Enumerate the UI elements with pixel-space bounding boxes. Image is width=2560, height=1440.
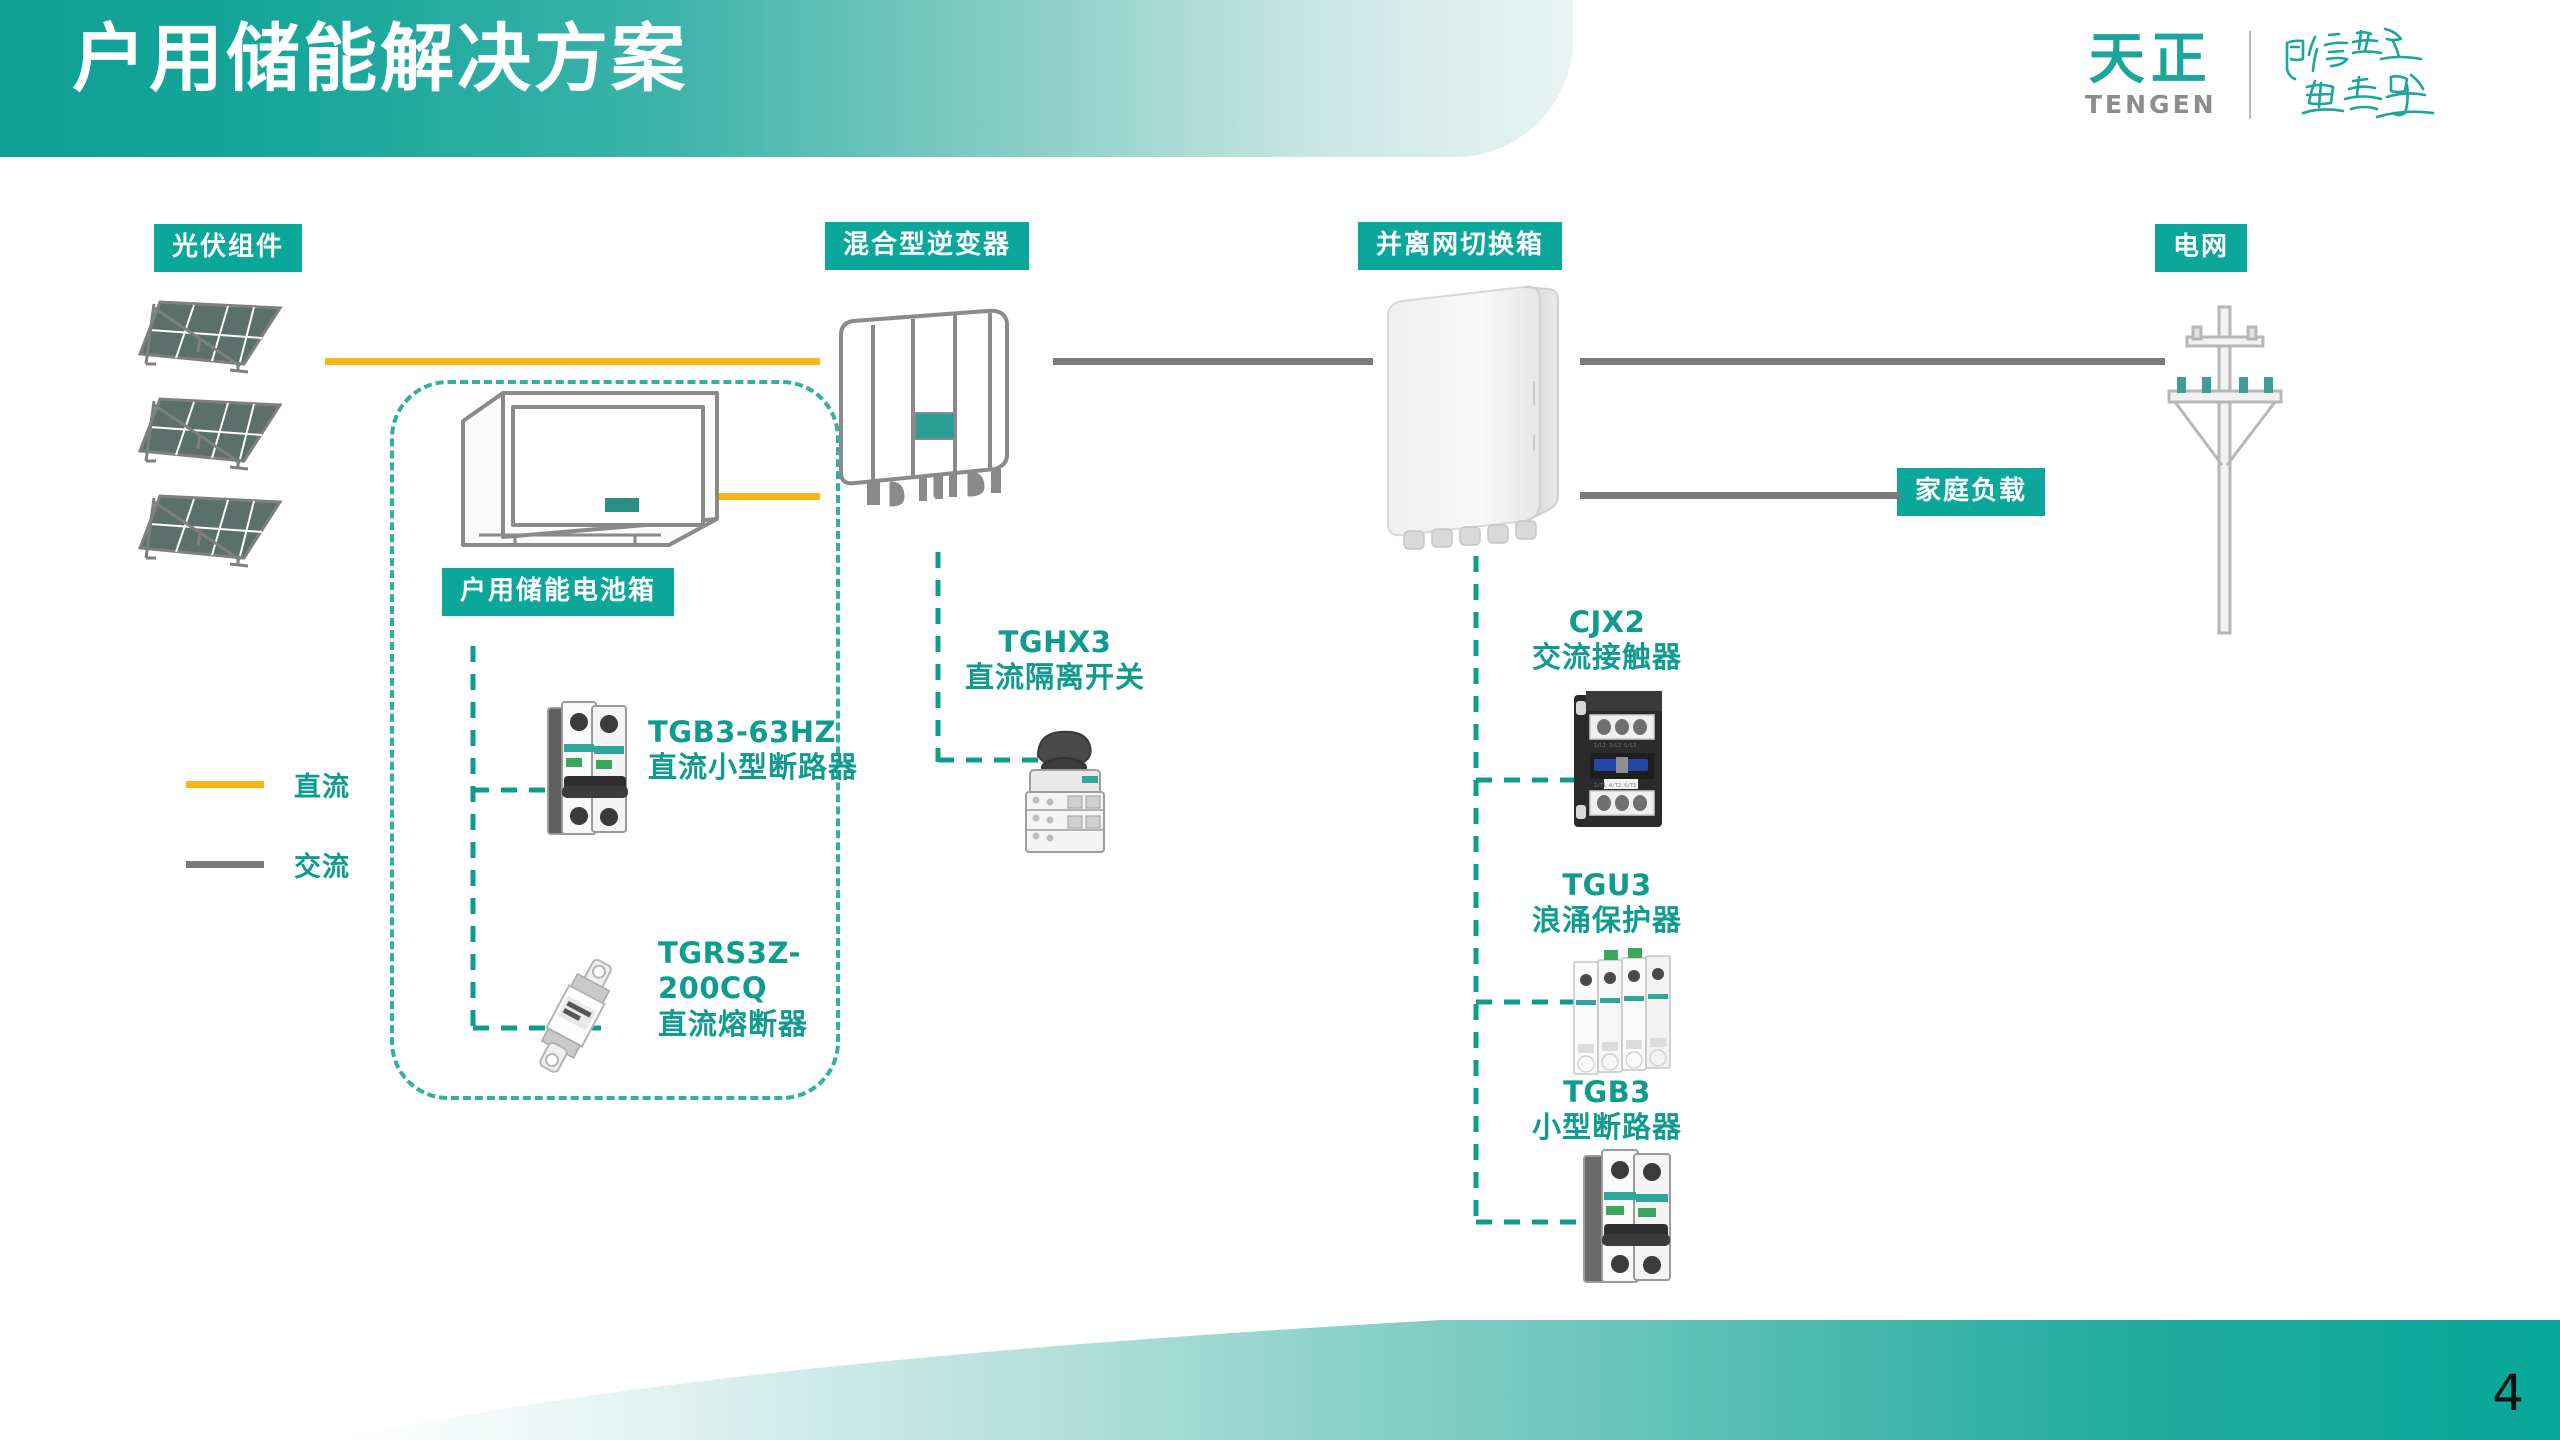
section-badge-switchbox: 并离网切换箱	[1358, 222, 1562, 270]
callout-cjx2-desc: 交流接触器	[1482, 640, 1732, 675]
footer-band	[0, 1320, 2560, 1440]
callout-tgu3-model: TGU3	[1482, 868, 1732, 903]
slide-canvas: 户用储能解决方案 天正 TENGEN	[0, 0, 2560, 1440]
ac-contactor-cjx2-icon: 1/L1 3/L2 5/L3 2/T1 4/T2 6/T3	[1560, 687, 1680, 837]
callout-tghx3-model: TGHX3	[930, 625, 1180, 660]
callout-tgb3-desc: 小型断路器	[1482, 1110, 1732, 1145]
wire-ac-inverter-to-switchbox	[1053, 358, 1373, 365]
section-badge-pv: 光伏组件	[154, 224, 302, 272]
logo-chinese-name: 天正	[2089, 31, 2213, 90]
legend-item-dc: 直流	[186, 765, 350, 804]
legend-swatch-dc	[186, 781, 264, 788]
callout-tgb3-63hz-model: TGB3-63HZ	[648, 715, 908, 750]
callout-tgrs3z-200cq-model-line2: 200CQ	[658, 971, 878, 1006]
dc-isolator-tghx3-icon	[1008, 718, 1118, 858]
wire-ac-switchbox-to-grid	[1580, 358, 2165, 365]
spd-tgu3-icon	[1562, 948, 1682, 1078]
legend-label-ac: 交流	[294, 845, 350, 884]
mcb-tgb3-icon	[1576, 1148, 1686, 1288]
brand-logo: 天正 TENGEN	[2085, 20, 2451, 130]
callout-cjx2: CJX2 交流接触器	[1482, 605, 1732, 676]
hybrid-inverter-icon	[835, 305, 1045, 555]
battery-cabinet-icon	[455, 385, 725, 565]
onoff-grid-switchbox-icon	[1382, 285, 1572, 550]
utility-pole-icon	[2155, 295, 2295, 635]
legend-item-ac: 交流	[186, 845, 350, 884]
callout-tgb3-model: TGB3	[1482, 1075, 1732, 1110]
callout-cjx2-model: CJX2	[1482, 605, 1732, 640]
section-badge-inverter: 混合型逆变器	[825, 222, 1029, 270]
callout-tgrs3z-200cq-model-line1: TGRS3Z-	[658, 936, 878, 971]
page-number: 4	[2492, 1368, 2524, 1418]
solar-panel-array-icon	[132, 292, 322, 592]
svg-text:1/L1 3/L2 5/L3: 1/L1 3/L2 5/L3	[1594, 743, 1636, 749]
callout-tgu3-desc: 浪涌保护器	[1482, 903, 1732, 938]
callout-tgb3-63hz-desc: 直流小型断路器	[648, 750, 908, 785]
callout-tgrs3z-200cq-desc: 直流熔断器	[658, 1007, 878, 1042]
callout-tgb3-63hz: TGB3-63HZ 直流小型断路器	[648, 715, 908, 786]
logo-divider	[2249, 31, 2251, 119]
svg-text:2/T1 4/T2 6/T3: 2/T1 4/T2 6/T3	[1594, 783, 1636, 789]
callout-tgb3: TGB3 小型断路器	[1482, 1075, 1732, 1146]
wire-dc-pv-to-inverter	[325, 358, 820, 365]
section-badge-grid: 电网	[2155, 224, 2247, 272]
legend-swatch-ac	[186, 861, 264, 868]
dc-mcb-tgb3-63hz-icon	[538, 700, 638, 840]
wire-ac-switchbox-to-load	[1580, 492, 1900, 499]
logo-mark: 天正 TENGEN	[2085, 31, 2217, 118]
callout-tghx3: TGHX3 直流隔离开关	[930, 625, 1180, 696]
callout-tgrs3z-200cq: TGRS3Z- 200CQ 直流熔断器	[658, 936, 878, 1042]
logo-english-name: TENGEN	[2085, 91, 2217, 119]
dc-fuse-tgrs3z-200cq-icon	[516, 950, 636, 1080]
callout-tgu3: TGU3 浪涌保护器	[1482, 868, 1732, 939]
page-title: 户用储能解决方案	[72, 22, 688, 96]
callout-tghx3-desc: 直流隔离开关	[930, 660, 1180, 695]
section-badge-load: 家庭负载	[1897, 468, 2045, 516]
legend-label-dc: 直流	[294, 765, 350, 804]
logo-slogan-icon	[2281, 25, 2451, 125]
